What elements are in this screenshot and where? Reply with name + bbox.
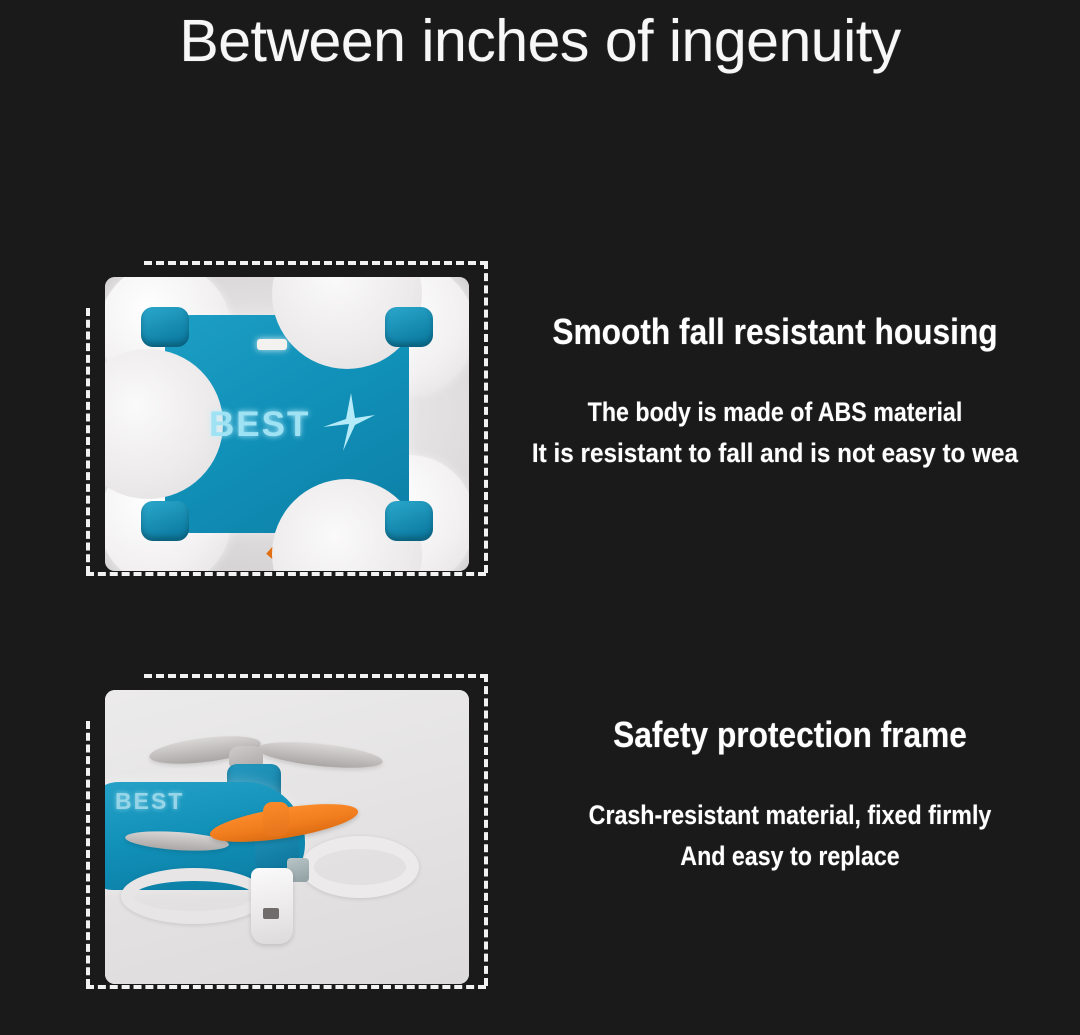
dashed-border-bottom: [86, 572, 486, 576]
product-photo-drone-top-view: BEST: [105, 277, 469, 571]
dashed-border-top: [144, 674, 488, 678]
product-photo-frame-1: BEST: [78, 250, 490, 595]
protection-guard-lower: [121, 868, 267, 924]
motor-mount-top-right: [385, 307, 433, 347]
dashed-border-right: [484, 674, 488, 986]
body-curve-left: [105, 349, 223, 499]
feature-body: Crash-resistant material, fixed firmly A…: [500, 795, 1080, 877]
brand-logo-text: BEST: [115, 788, 184, 815]
feature-text-safety-protection-frame: Safety protection frame Crash-resistant …: [500, 713, 1080, 877]
protection-guard-right: [301, 836, 419, 898]
feature-body-line: Crash-resistant material, fixed firmly: [541, 795, 1040, 836]
dashed-border-left: [86, 721, 90, 987]
dashed-border-bottom: [86, 985, 486, 989]
drone-body-shell: [165, 315, 409, 533]
feature-heading: Safety protection frame: [535, 713, 1045, 757]
feature-body-line: The body is made of ABS material: [513, 392, 1038, 433]
landing-leg: [251, 868, 293, 944]
feature-row-safety-protection-frame: BEST Safety protection frame Crash-resis…: [0, 663, 1080, 1008]
feature-row-fall-resistant-housing: BEST Smooth fall resistant housing The b…: [0, 250, 1080, 600]
motor-mount-top-left: [141, 307, 189, 347]
dashed-border-top: [144, 261, 488, 265]
motor-mount-bottom-right: [385, 501, 433, 541]
feature-body: The body is made of ABS material It is r…: [470, 392, 1080, 474]
product-photo-drone-closeup: BEST: [105, 690, 469, 984]
orange-propeller-hub: [263, 802, 289, 836]
feature-heading: Smooth fall resistant housing: [507, 310, 1044, 354]
status-led: [257, 339, 287, 350]
feature-text-fall-resistant-housing: Smooth fall resistant housing The body i…: [470, 310, 1080, 474]
motor-mount-bottom-left: [141, 501, 189, 541]
charging-port: [263, 908, 279, 919]
feature-body-line: And easy to replace: [541, 836, 1040, 877]
product-photo-frame-2: BEST: [78, 663, 490, 1008]
product-feature-infographic: Between inches of ingenuity: [0, 0, 1080, 1035]
feature-body-line: It is resistant to fall and is not easy …: [501, 433, 1050, 474]
page-title: Between inches of ingenuity: [0, 6, 1080, 76]
dashed-border-left: [86, 308, 90, 574]
